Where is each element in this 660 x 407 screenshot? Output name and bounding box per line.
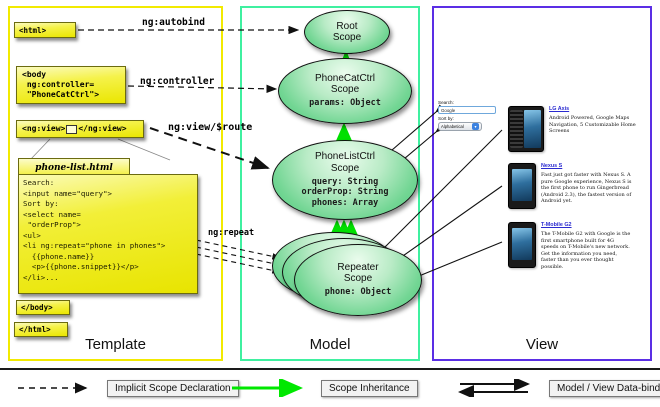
legend-item-data-binding: Model / View Data-binding <box>456 379 660 397</box>
scope-root-title-2: Scope <box>333 32 361 43</box>
green-arrow-icon <box>228 379 314 397</box>
legend-label-scope-inheritance: Scope Inheritance <box>321 380 418 397</box>
phone-list-item: LG Axis Android Powered, Google Maps Nav… <box>508 106 641 152</box>
legend-label-implicit-scope: Implicit Scope Declaration <box>107 380 239 397</box>
diagram-canvas: Template Model View <box>0 0 660 405</box>
scope-list-props: query: String orderProp: String phones: … <box>302 177 389 209</box>
phone-link-tmobile-g2[interactable]: T-Mobile G2 <box>541 222 633 228</box>
note-phone-list-html: phone-list.html Search: <input name="que… <box>18 158 198 294</box>
code-box-body-open: <body ng:controller= "PhoneCatCtrl"> <box>16 66 126 104</box>
scope-rep-props: phone: Object <box>325 287 392 298</box>
sort-label: Sort by: <box>438 116 500 121</box>
code-box-html-open: <html> <box>14 22 76 38</box>
scope-cat-props: params: Object <box>309 98 381 109</box>
phone-desc-lg-axis: Android Powered, Google Maps Navigation,… <box>549 115 641 135</box>
scope-root: Root Scope <box>304 10 390 54</box>
search-label: Search: <box>438 100 500 105</box>
chevron-down-icon: ▾ <box>472 123 479 130</box>
legend: Implicit Scope Declaration Scope Inherit… <box>0 368 660 407</box>
phone-link-nexus-s[interactable]: Nexus S <box>541 163 633 169</box>
scope-rep-title-1: Repeater <box>337 262 378 273</box>
ngview-close-tag: </ng:view> <box>78 124 126 134</box>
scope-repeater: Repeater Scope phone: Object <box>294 244 422 316</box>
ngview-open-tag: <ng:view> <box>22 124 65 134</box>
label-ng-view-route: ng:view/$route <box>168 122 252 133</box>
scope-phonelistctrl: PhoneListCtrl Scope query: String orderP… <box>272 140 418 220</box>
sort-select-value: Alphabetical <box>441 124 464 129</box>
label-ng-repeat: ng:repeat <box>208 228 254 238</box>
phone-list-item: Nexus S Fast just got faster with Nexus … <box>508 163 633 209</box>
view-slot-icon <box>66 125 77 134</box>
label-ng-autobind: ng:autobind <box>142 17 205 28</box>
scope-repeater-stack: Repeater Scope phone: Object <box>272 232 424 320</box>
phone-thumbnail-nexus-s <box>508 163 536 209</box>
search-input[interactable]: Google <box>438 106 496 114</box>
code-box-body-close: </body> <box>16 300 70 315</box>
scope-list-title-1: PhoneListCtrl <box>315 151 375 162</box>
code-box-html-close: </html> <box>14 322 68 337</box>
phone-desc-tmobile-g2: The T-Mobile G2 with Google is the first… <box>541 231 633 271</box>
panel-view-label: View <box>434 336 650 353</box>
panel-model-label: Model <box>242 336 418 353</box>
scope-phonecatctrl: PhoneCatCtrl Scope params: Object <box>278 58 412 124</box>
sort-select[interactable]: Alphabetical ▾ <box>438 122 482 131</box>
code-box-ngview: <ng:view> </ng:view> <box>16 120 144 138</box>
legend-label-data-binding: Model / View Data-binding <box>549 380 660 397</box>
phone-link-lg-axis[interactable]: LG Axis <box>549 106 641 112</box>
double-arrow-icon <box>456 379 542 397</box>
label-ng-controller: ng:controller <box>140 76 214 87</box>
legend-item-scope-inheritance: Scope Inheritance <box>228 379 418 397</box>
dashed-arrow-icon <box>14 379 100 397</box>
scope-list-title-2: Scope <box>315 163 375 174</box>
phone-list-item: T-Mobile G2 The T-Mobile G2 with Google … <box>508 222 633 271</box>
scope-root-title-1: Root <box>333 21 361 32</box>
phone-thumbnail-tmobile-g2 <box>508 222 536 268</box>
scope-cat-title-1: PhoneCatCtrl <box>315 73 375 84</box>
note-code: Search: <input name="query"> Sort by: <s… <box>18 174 198 294</box>
panel-template-label: Template <box>10 336 221 353</box>
legend-item-implicit-scope: Implicit Scope Declaration <box>14 379 239 397</box>
phone-desc-nexus-s: Fast just got faster with Nexus S. A pur… <box>541 172 633 205</box>
scope-rep-title-2: Scope <box>337 273 378 284</box>
scope-cat-title-2: Scope <box>315 84 375 95</box>
phone-thumbnail-lg-axis <box>508 106 544 152</box>
view-search-form: Search: Google Sort by: Alphabetical ▾ <box>438 100 500 131</box>
